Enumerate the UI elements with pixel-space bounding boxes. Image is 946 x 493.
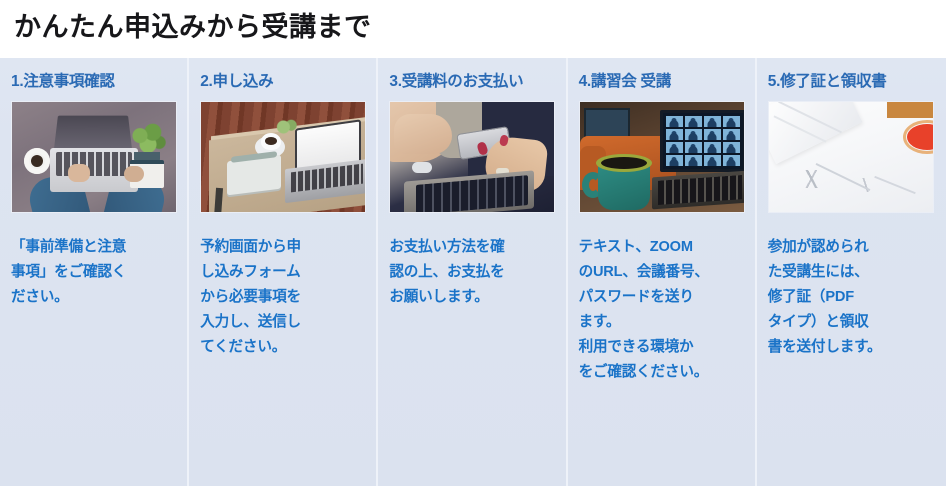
step-2-image <box>200 101 366 213</box>
step-3-body: お支払い方法を確 認の上、お支払を お願いします。 <box>389 235 554 310</box>
coffee-cup-shape <box>261 133 281 150</box>
step-column-4: 4.講習会 受講 <box>568 58 757 486</box>
step-4-image <box>579 101 745 213</box>
mug-rim-shape <box>596 154 652 172</box>
infographic-page: かんたん申込みから受講まで 1.注意事項確認 <box>0 0 946 493</box>
step-column-2: 2.申し込み 予約画面から申 し込みフォーム から必要事項を 入力し、送信し て… <box>189 58 378 486</box>
participant-tile <box>704 129 721 140</box>
participant-tile <box>723 142 740 153</box>
laptop-screen-shape <box>660 110 745 172</box>
participant-tile <box>685 155 702 166</box>
participant-tile <box>723 129 740 140</box>
step-4-body: テキスト、ZOOM のURL、会議番号、 パスワードを送り ます。 利用できる環… <box>579 235 744 385</box>
hand-right-shape <box>124 166 144 182</box>
hand-left-shape <box>68 164 90 182</box>
participant-tile <box>723 155 740 166</box>
signature-mark <box>795 170 829 188</box>
participant-tile <box>666 129 683 140</box>
signature-line <box>874 176 916 194</box>
wooden-table-laptop-photo <box>201 102 365 212</box>
step-4-heading: 4.講習会 受講 <box>579 72 744 92</box>
steps-panel: 1.注意事項確認 「事前準備と注意 事項」をご確認く ださい。 <box>0 58 946 486</box>
participant-tile <box>704 116 721 127</box>
participant-tile <box>666 155 683 166</box>
step-5-image <box>768 101 934 213</box>
certificate-with-seal-photo <box>769 102 933 212</box>
coffee-cup-shape <box>24 148 50 174</box>
hands-smartphone-laptop-photo <box>390 102 554 212</box>
participant-tile <box>704 142 721 153</box>
step-2-heading: 2.申し込み <box>200 72 365 92</box>
step-column-1: 1.注意事項確認 「事前準備と注意 事項」をご確認く ださい。 <box>0 58 189 486</box>
laptop-lid-shape <box>54 116 132 151</box>
step-5-body: 参加が認められ た受講生には、 修了証（PDF タイプ）と領収 書を送付します。 <box>768 235 935 360</box>
step-5-heading: 5.修了証と領収書 <box>768 72 935 92</box>
participant-tile <box>685 129 702 140</box>
step-3-image <box>389 101 555 213</box>
zoom-participant-grid <box>666 116 740 166</box>
step-1-heading: 1.注意事項確認 <box>11 72 176 92</box>
participant-tile <box>704 155 721 166</box>
step-3-heading: 3.受講料のお支払い <box>389 72 554 92</box>
plant-shape <box>128 122 168 156</box>
zoom-meeting-laptop-mug-photo <box>580 102 744 212</box>
step-1-image <box>11 101 177 213</box>
desk-edge-shape <box>887 102 933 118</box>
step-column-5: 5.修了証と領収書 参加が認められ た受講生には、 修了証（PDF タイプ）と領… <box>757 58 946 486</box>
step-column-3: 3.受講料のお支払い お支払い方法を確 認の上、お支払を お <box>378 58 567 486</box>
hand-left-shape <box>394 114 452 154</box>
participant-tile <box>685 116 702 127</box>
paper-fold-shape <box>768 101 862 164</box>
participant-tile <box>666 116 683 127</box>
step-2-body: 予約画面から申 し込みフォーム から必要事項を 入力し、送信し てください。 <box>200 235 365 360</box>
keyboard-shape <box>652 171 745 210</box>
page-title: かんたん申込みから受講まで <box>14 6 372 48</box>
notebook-shape <box>227 155 281 196</box>
desk-laptop-topdown-photo <box>12 102 176 212</box>
mouse-shape <box>412 162 432 173</box>
participant-tile <box>723 116 740 127</box>
step-1-body: 「事前準備と注意 事項」をご確認く ださい。 <box>11 235 176 310</box>
participant-tile <box>685 142 702 153</box>
participant-tile <box>666 142 683 153</box>
